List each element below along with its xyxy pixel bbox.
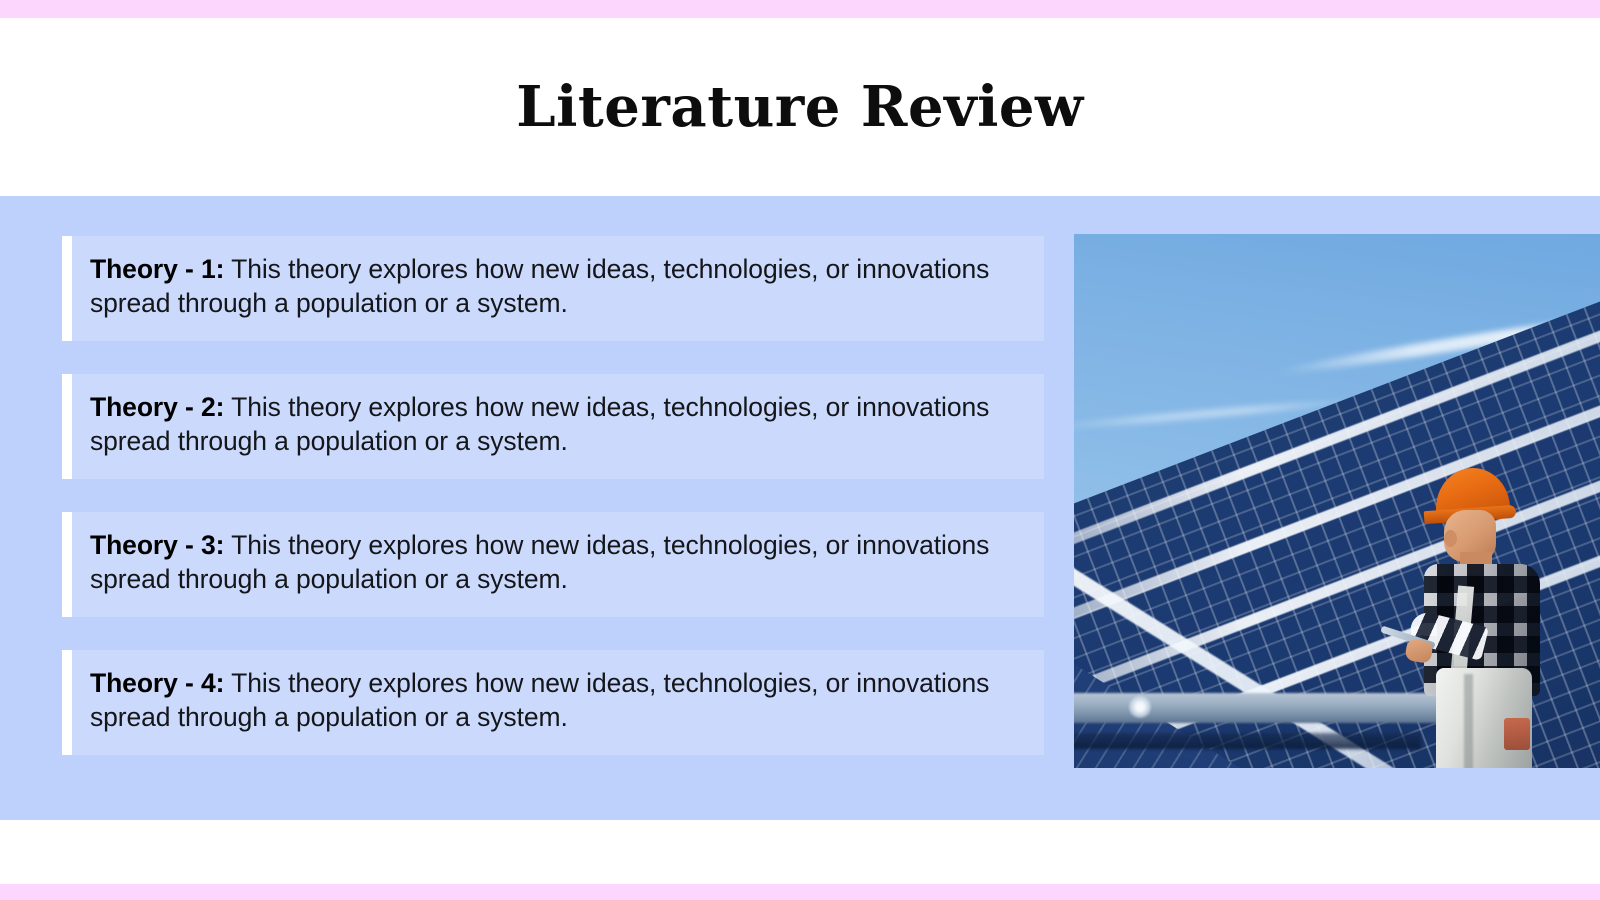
theory-card-text: Theory - 2: This theory explores how new… bbox=[90, 390, 1020, 459]
theory-card[interactable]: Theory - 1: This theory explores how new… bbox=[62, 236, 1044, 341]
theory-card-lead: Theory - 1: bbox=[90, 254, 224, 284]
theory-card-body: This theory explores how new ideas, tech… bbox=[90, 392, 989, 456]
theory-card-lead: Theory - 2: bbox=[90, 392, 224, 422]
slide: Literature Review Theory - 1: This theor… bbox=[0, 0, 1600, 900]
theory-card-text: Theory - 3: This theory explores how new… bbox=[90, 528, 1020, 597]
theory-card-body: This theory explores how new ideas, tech… bbox=[90, 530, 989, 594]
card-accent-bar bbox=[62, 650, 72, 755]
worker-ear bbox=[1444, 530, 1457, 547]
worker-figure bbox=[1408, 468, 1558, 768]
card-accent-bar bbox=[62, 236, 72, 341]
bottom-accent-strip bbox=[0, 884, 1600, 900]
title-band: Literature Review bbox=[0, 18, 1600, 196]
mounting-beam-shadow bbox=[1074, 733, 1421, 749]
overall-fold bbox=[1464, 674, 1473, 768]
theory-card[interactable]: Theory - 4: This theory explores how new… bbox=[62, 650, 1044, 755]
theory-card[interactable]: Theory - 2: This theory explores how new… bbox=[62, 374, 1044, 479]
theory-card-body: This theory explores how new ideas, tech… bbox=[90, 668, 989, 732]
top-accent-strip bbox=[0, 0, 1600, 18]
theory-card-text: Theory - 4: This theory explores how new… bbox=[90, 666, 1020, 735]
overall-pocket bbox=[1504, 718, 1530, 750]
page-title: Literature Review bbox=[516, 79, 1083, 135]
lens-flare-dot bbox=[1129, 696, 1151, 718]
theory-card-text: Theory - 1: This theory explores how new… bbox=[90, 252, 1020, 321]
photo-sky bbox=[1074, 234, 1600, 768]
solar-panel-photo bbox=[1074, 234, 1600, 768]
theory-card[interactable]: Theory - 3: This theory explores how new… bbox=[62, 512, 1044, 617]
content-band: Theory - 1: This theory explores how new… bbox=[0, 196, 1600, 820]
theory-card-lead: Theory - 4: bbox=[90, 668, 224, 698]
theory-card-list: Theory - 1: This theory explores how new… bbox=[62, 236, 1044, 755]
card-accent-bar bbox=[62, 374, 72, 479]
theory-card-body: This theory explores how new ideas, tech… bbox=[90, 254, 989, 318]
card-accent-bar bbox=[62, 512, 72, 617]
theory-card-lead: Theory - 3: bbox=[90, 530, 224, 560]
